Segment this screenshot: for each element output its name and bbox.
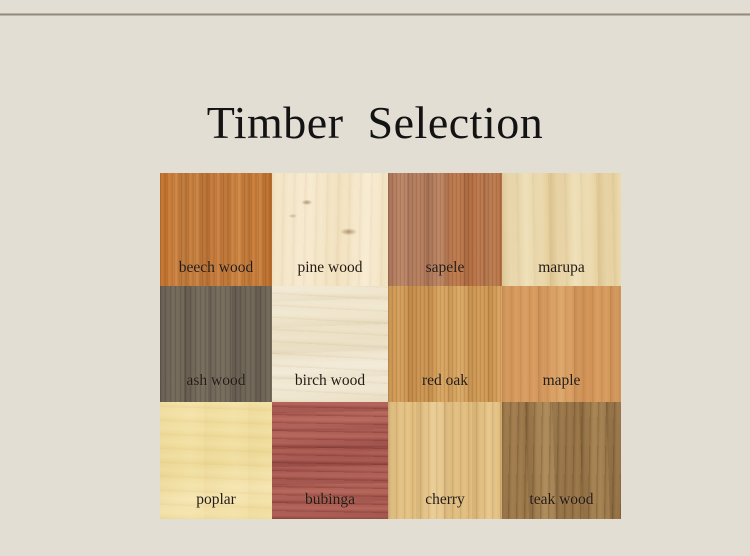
timber-swatch-label: sapele bbox=[388, 259, 502, 276]
timber-swatch-birch-wood[interactable]: birch wood bbox=[272, 286, 388, 402]
timber-swatch-label: red oak bbox=[388, 372, 502, 389]
timber-swatch-label: teak wood bbox=[502, 491, 621, 508]
timber-swatch-teak-wood[interactable]: teak wood bbox=[502, 402, 621, 519]
timber-swatch-pine-wood[interactable]: pine wood bbox=[272, 173, 388, 286]
timber-swatch-label: birch wood bbox=[272, 372, 388, 389]
timber-sample-grid: beech wood pine wood sapele marupa ash w… bbox=[160, 173, 621, 519]
timber-swatch-poplar[interactable]: poplar bbox=[160, 402, 272, 519]
timber-swatch-label: ash wood bbox=[160, 372, 272, 389]
timber-swatch-ash-wood[interactable]: ash wood bbox=[160, 286, 272, 402]
timber-swatch-sapele[interactable]: sapele bbox=[388, 173, 502, 286]
timber-swatch-label: cherry bbox=[388, 491, 502, 508]
timber-swatch-marupa[interactable]: marupa bbox=[502, 173, 621, 286]
timber-swatch-bubinga[interactable]: bubinga bbox=[272, 402, 388, 519]
timber-swatch-label: pine wood bbox=[272, 259, 388, 276]
timber-swatch-label: beech wood bbox=[160, 259, 272, 276]
timber-swatch-label: maple bbox=[502, 372, 621, 389]
timber-swatch-cherry[interactable]: cherry bbox=[388, 402, 502, 519]
timber-swatch-red-oak[interactable]: red oak bbox=[388, 286, 502, 402]
header-divider-rule bbox=[0, 13, 750, 16]
timber-swatch-maple[interactable]: maple bbox=[502, 286, 621, 402]
page-title: Timber Selection bbox=[0, 93, 750, 153]
timber-swatch-label: marupa bbox=[502, 259, 621, 276]
timber-swatch-label: poplar bbox=[160, 491, 272, 508]
timber-swatch-label: bubinga bbox=[272, 491, 388, 508]
timber-swatch-beech-wood[interactable]: beech wood bbox=[160, 173, 272, 286]
